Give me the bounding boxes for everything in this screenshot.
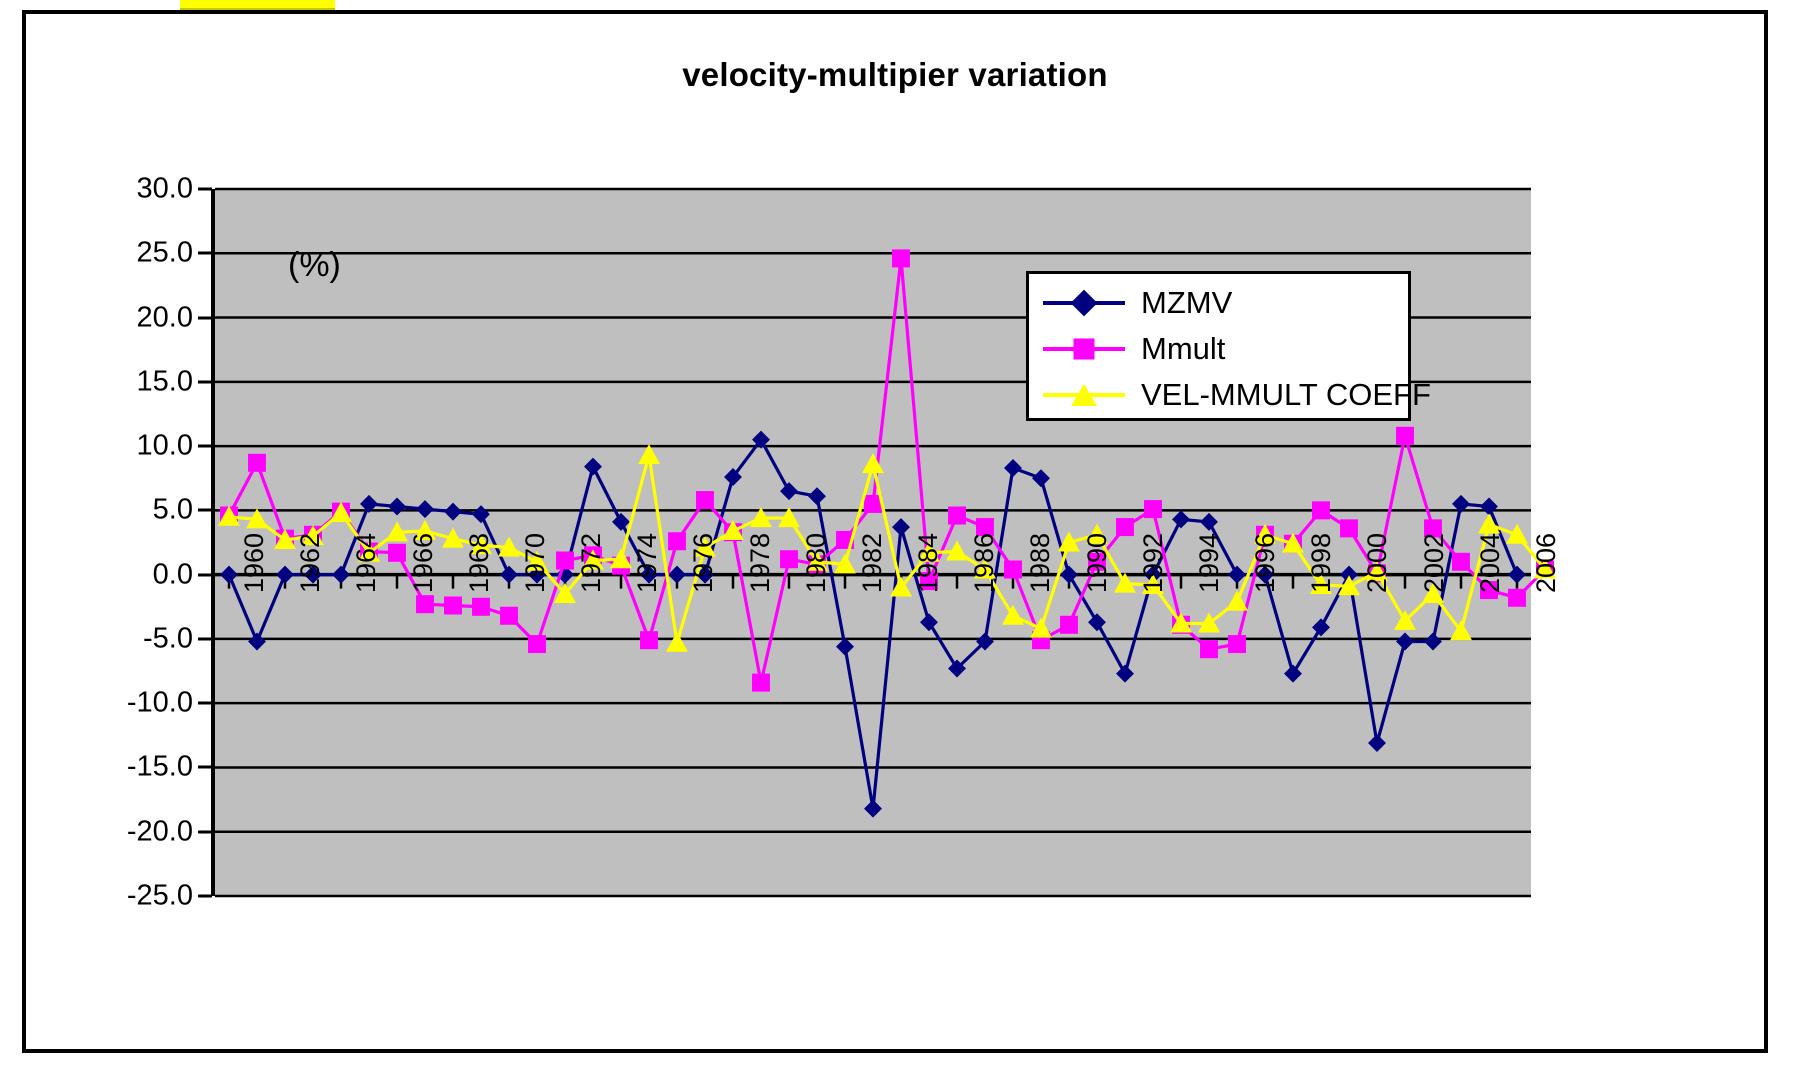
- data-point-marker: [1060, 616, 1078, 634]
- data-point-marker: [696, 491, 714, 509]
- chart-page: velocity-multipier variation 30.025.020.…: [0, 0, 1805, 1070]
- data-point-marker: [472, 598, 490, 616]
- legend-item-vel-mmult-coeff[interactable]: VEL-MMULT COEFF: [1029, 372, 1408, 418]
- data-point-marker: [808, 487, 826, 505]
- y-axis-tick-label: 30.0: [137, 173, 193, 206]
- data-point-marker: [668, 532, 686, 550]
- data-point-marker: [1452, 553, 1470, 571]
- y-axis-tick-mark: [198, 445, 212, 448]
- x-axis-tick-label: 1992: [1138, 533, 1169, 593]
- legend-label-mzmv: MZMV: [1141, 285, 1232, 321]
- square-marker-icon: [1074, 339, 1095, 360]
- data-point-marker: [1116, 665, 1134, 683]
- data-point-marker: [388, 544, 406, 562]
- y-axis-tick-label: 25.0: [137, 237, 193, 270]
- chart-title: velocity-multipier variation: [26, 56, 1764, 94]
- y-axis-tick-label: 20.0: [137, 301, 193, 334]
- x-axis-tick-label: 1990: [1082, 533, 1113, 593]
- y-axis-tick-mark: [198, 188, 212, 191]
- data-point-marker: [1060, 566, 1078, 584]
- data-point-marker: [640, 631, 658, 649]
- y-axis-tick-label: 10.0: [137, 430, 193, 463]
- data-point-marker: [500, 566, 518, 584]
- data-point-marker: [1004, 560, 1022, 578]
- y-axis-tick-mark: [198, 766, 212, 769]
- data-point-marker: [444, 596, 462, 614]
- x-axis-tick-label: 1998: [1306, 533, 1337, 593]
- x-axis-tick-label: 1984: [913, 533, 944, 593]
- y-axis-labels: 30.025.020.015.010.05.00.0-5.0-10.0-15.0…: [121, 189, 193, 896]
- y-axis-tick-label: -5.0: [143, 622, 193, 655]
- data-point-marker: [276, 566, 294, 584]
- y-axis-tick-mark: [198, 637, 212, 640]
- y-axis-tick-mark: [198, 252, 212, 255]
- data-point-marker: [1144, 500, 1162, 518]
- data-point-marker: [1228, 635, 1246, 653]
- chart-frame: velocity-multipier variation 30.025.020.…: [22, 10, 1768, 1053]
- data-point-marker: [862, 453, 884, 473]
- data-point-marker: [1172, 510, 1190, 528]
- x-axis-tick-label: 1982: [857, 533, 888, 593]
- legend-key-mmult: [1043, 334, 1125, 364]
- data-point-marker: [1506, 524, 1528, 544]
- data-point-marker: [1032, 469, 1050, 487]
- percent-unit-annotation: (%): [288, 246, 341, 285]
- y-axis-tick-mark: [198, 509, 212, 512]
- y-axis-tick-mark: [198, 380, 212, 383]
- y-axis-tick-label: -10.0: [127, 687, 193, 720]
- data-point-marker: [472, 505, 490, 523]
- y-axis-tick-label: -25.0: [127, 880, 193, 913]
- data-point-marker: [1368, 734, 1386, 752]
- x-axis-tick-label: 1986: [969, 533, 1000, 593]
- data-point-marker: [1312, 618, 1330, 636]
- data-point-marker: [500, 607, 518, 625]
- data-point-marker: [248, 632, 266, 650]
- x-axis-tick-label: 2000: [1362, 533, 1393, 593]
- data-point-marker: [1340, 519, 1358, 537]
- legend-item-mmult[interactable]: Mmult: [1029, 326, 1408, 372]
- y-axis-tick-label: -15.0: [127, 751, 193, 784]
- x-axis-tick-label: 1960: [239, 533, 270, 593]
- data-point-marker: [1004, 459, 1022, 477]
- x-axis-tick-label: 1994: [1194, 533, 1225, 593]
- yellow-corner-marker: [180, 0, 335, 10]
- x-axis-tick-label: 1974: [632, 533, 663, 593]
- data-point-marker: [666, 632, 688, 652]
- x-axis-tick-label: 2004: [1475, 533, 1506, 593]
- data-point-marker: [1396, 427, 1414, 445]
- x-axis-tick-label: 1966: [408, 533, 439, 593]
- y-axis-tick-label: 5.0: [153, 494, 193, 527]
- data-point-marker: [1396, 632, 1414, 650]
- data-point-marker: [752, 674, 770, 692]
- data-point-marker: [780, 482, 798, 500]
- data-point-marker: [416, 500, 434, 518]
- legend-label-coeff: VEL-MMULT COEFF: [1141, 377, 1431, 413]
- y-axis-tick-label: 0.0: [153, 558, 193, 591]
- x-axis-tick-label: 1980: [801, 533, 832, 593]
- data-point-marker: [528, 635, 546, 653]
- legend-item-mzmv[interactable]: MZMV: [1029, 280, 1408, 326]
- legend-label-mmult: Mmult: [1141, 331, 1225, 367]
- data-point-marker: [1284, 665, 1302, 683]
- data-point-marker: [1508, 566, 1526, 584]
- data-point-marker: [1200, 640, 1218, 658]
- x-axis-tick-label: 1996: [1250, 533, 1281, 593]
- data-point-marker: [388, 498, 406, 516]
- data-point-marker: [892, 249, 910, 267]
- x-axis-tick-label: 1976: [688, 533, 719, 593]
- y-axis-tick-label: 15.0: [137, 365, 193, 398]
- data-point-marker: [556, 551, 574, 569]
- x-axis-tick-label: 1988: [1025, 533, 1056, 593]
- x-axis-tick-label: 2002: [1419, 533, 1450, 593]
- legend-key-mzmv: [1043, 288, 1125, 318]
- data-point-marker: [1002, 605, 1024, 625]
- y-axis-tick-mark: [198, 573, 212, 576]
- y-axis-tick-mark: [198, 895, 212, 898]
- x-axis-tick-label: 1970: [520, 533, 551, 593]
- chart-legend: MZMV Mmult VEL-MMULT COEFF: [1026, 271, 1411, 421]
- data-point-marker: [1508, 589, 1526, 607]
- data-point-marker: [780, 550, 798, 568]
- y-axis-tick-mark: [198, 316, 212, 319]
- data-point-marker: [1228, 566, 1246, 584]
- data-point-marker: [1424, 632, 1442, 650]
- diamond-marker-icon: [1071, 290, 1098, 317]
- legend-key-coeff: [1043, 380, 1125, 410]
- data-point-marker: [948, 507, 966, 525]
- data-point-marker: [416, 595, 434, 613]
- data-point-marker: [584, 458, 602, 476]
- data-point-marker: [920, 613, 938, 631]
- data-point-marker: [248, 454, 266, 472]
- x-axis-tick-label: 1964: [351, 533, 382, 593]
- data-point-marker: [1226, 591, 1248, 611]
- data-point-marker: [444, 503, 462, 521]
- data-point-marker: [1200, 513, 1218, 531]
- data-point-marker: [836, 638, 854, 656]
- data-point-marker: [612, 513, 630, 531]
- x-axis-tick-label: 1978: [745, 533, 776, 593]
- data-point-marker: [332, 566, 350, 584]
- x-axis-tick-label: 1962: [295, 533, 326, 593]
- data-point-marker: [1312, 501, 1330, 519]
- x-axis-tick-label: 1968: [464, 533, 495, 593]
- data-point-marker: [1116, 518, 1134, 536]
- y-axis-tick-mark: [198, 702, 212, 705]
- y-axis-tick-mark: [198, 830, 212, 833]
- y-axis-tick-label: -20.0: [127, 815, 193, 848]
- data-point-marker: [892, 518, 910, 536]
- y-axis-ticks: [198, 189, 212, 896]
- triangle-marker-icon: [1071, 384, 1097, 406]
- x-axis-tick-label: 2006: [1531, 533, 1562, 593]
- data-point-marker: [220, 566, 238, 584]
- data-point-marker: [1480, 498, 1498, 516]
- x-axis-tick-label: 1972: [576, 533, 607, 593]
- data-point-marker: [864, 800, 882, 818]
- data-point-marker: [1088, 613, 1106, 631]
